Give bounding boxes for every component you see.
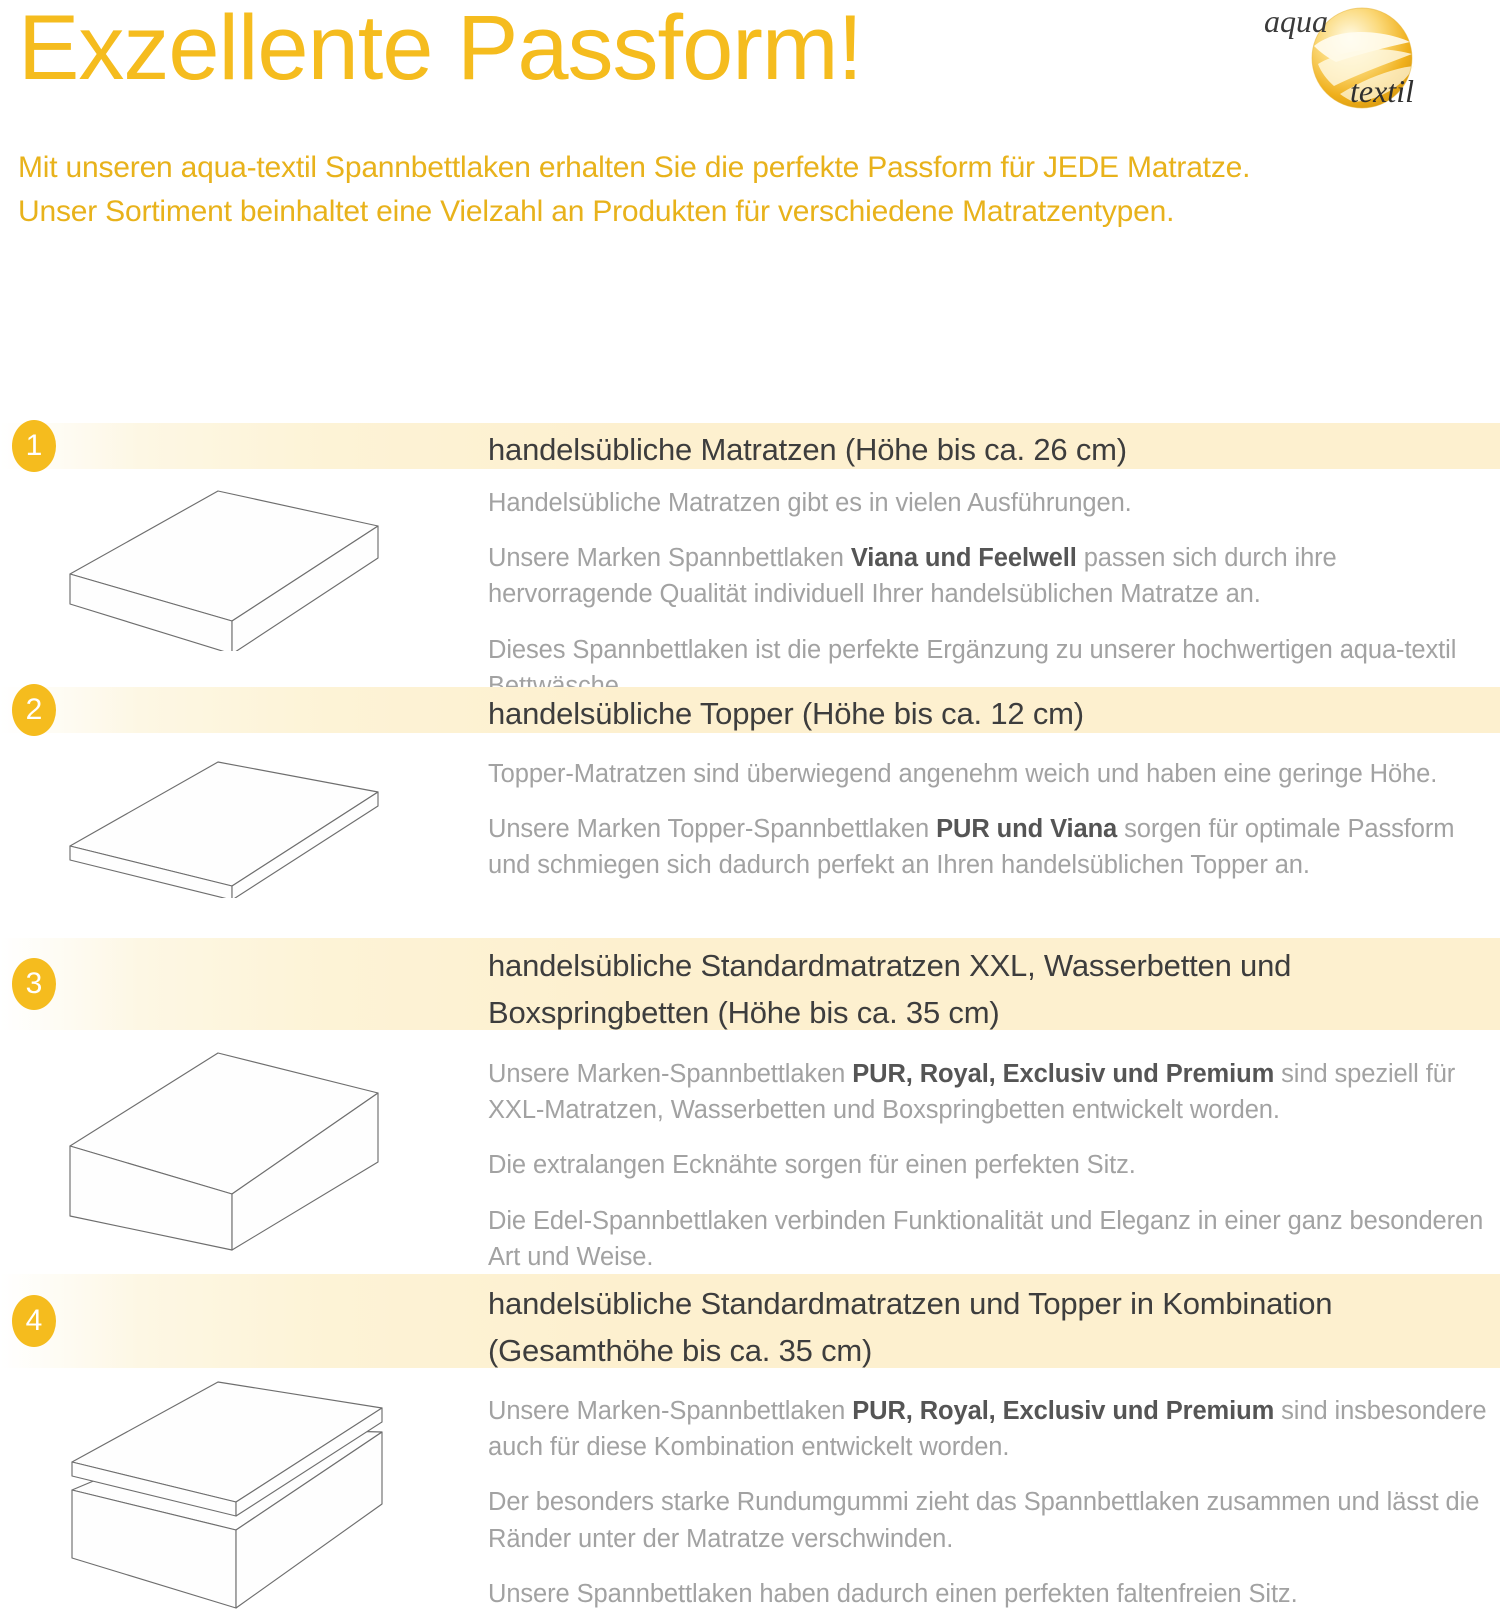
paragraph: Unsere Marken Spannbettlaken Viana und F… (488, 540, 1488, 612)
intro-line-2: Unser Sortiment beinhaltet eine Vielzahl… (18, 190, 1488, 234)
intro-paragraph: Mit unseren aqua-textil Spannbettlaken e… (18, 146, 1488, 235)
section-1-body: Handelsübliche Matratzen gibt es in viel… (488, 485, 1488, 704)
section-3-number-badge: 3 (12, 958, 56, 1010)
text-run: Die Edel-Spannbettlaken verbinden Funkti… (488, 1207, 1483, 1271)
section-3-title: handelsübliche Standardmatratzen XXL, Wa… (488, 942, 1291, 1036)
text-run: Topper-Matratzen sind überwiegend angene… (488, 760, 1437, 788)
paragraph: Unsere Spannbettlaken haben dadurch eine… (488, 1576, 1488, 1612)
paragraph: Die Edel-Spannbettlaken verbinden Funkti… (488, 1203, 1488, 1275)
topper-thin-icon (60, 748, 390, 898)
page-header: Exzellente Passform! aqua textil (0, 0, 1500, 140)
paragraph: Die extralangen Ecknähte sorgen für eine… (488, 1147, 1488, 1183)
section-4-number-badge: 4 (12, 1295, 56, 1347)
brand-names: Viana und Feelwell (851, 544, 1077, 572)
paragraph: Unsere Marken Topper-Spannbettlaken PUR … (488, 811, 1488, 883)
section-4-title-line-2: (Gesamthöhe bis ca. 35 cm) (488, 1327, 1332, 1374)
section-4-body: Unsere Marken-Spannbettlaken PUR, Royal,… (488, 1393, 1488, 1612)
intro-line-1: Mit unseren aqua-textil Spannbettlaken e… (18, 146, 1488, 190)
text-run: Unsere Marken-Spannbettlaken (488, 1397, 852, 1425)
logo-word-aqua: aqua (1264, 3, 1328, 39)
section-3-title-line-1: handelsübliche Standardmatratzen XXL, Wa… (488, 942, 1291, 989)
section-3-body: Unsere Marken-Spannbettlaken PUR, Royal,… (488, 1056, 1488, 1275)
section-1-number-badge: 1 (12, 420, 56, 472)
text-run: Handelsübliche Matratzen gibt es in viel… (488, 489, 1132, 517)
text-run: Der besonders starke Rundumgummi zieht d… (488, 1488, 1479, 1552)
text-run: Unsere Marken Spannbettlaken (488, 544, 851, 572)
section-2-body: Topper-Matratzen sind überwiegend angene… (488, 756, 1488, 884)
text-run: Unsere Marken Topper-Spannbettlaken (488, 815, 936, 843)
text-run: Unsere Spannbettlaken haben dadurch eine… (488, 1580, 1298, 1608)
section-4-title: handelsübliche Standardmatratzen und Top… (488, 1280, 1332, 1374)
brand-names: PUR und Viana (936, 815, 1117, 843)
section-2-title: handelsübliche Topper (Höhe bis ca. 12 c… (488, 690, 1084, 737)
mattress-standard-icon (60, 466, 390, 651)
paragraph: Unsere Marken-Spannbettlaken PUR, Royal,… (488, 1056, 1488, 1128)
brand-names: PUR, Royal, Exclusiv und Premium (852, 1397, 1274, 1425)
paragraph: Topper-Matratzen sind überwiegend angene… (488, 756, 1488, 792)
section-3-title-line-2: Boxspringbetten (Höhe bis ca. 35 cm) (488, 989, 1291, 1036)
mattress-topper-combo-icon (60, 1380, 405, 1615)
logo-word-textil: textil (1350, 73, 1414, 109)
mattress-xxl-icon (60, 1038, 390, 1253)
paragraph: Unsere Marken-Spannbettlaken PUR, Royal,… (488, 1393, 1488, 1465)
section-2-number-badge: 2 (12, 684, 56, 736)
paragraph: Der besonders starke Rundumgummi zieht d… (488, 1484, 1488, 1556)
page-title: Exzellente Passform! (18, 0, 862, 102)
section-4-title-line-1: handelsübliche Standardmatratzen und Top… (488, 1280, 1332, 1327)
text-run: Unsere Marken-Spannbettlaken (488, 1060, 852, 1088)
brand-names: PUR, Royal, Exclusiv und Premium (852, 1060, 1274, 1088)
aqua-textil-logo: aqua textil (1234, 2, 1482, 114)
paragraph: Handelsübliche Matratzen gibt es in viel… (488, 485, 1488, 521)
section-1-title: handelsübliche Matratzen (Höhe bis ca. 2… (488, 426, 1127, 473)
text-run: Die extralangen Ecknähte sorgen für eine… (488, 1151, 1136, 1179)
